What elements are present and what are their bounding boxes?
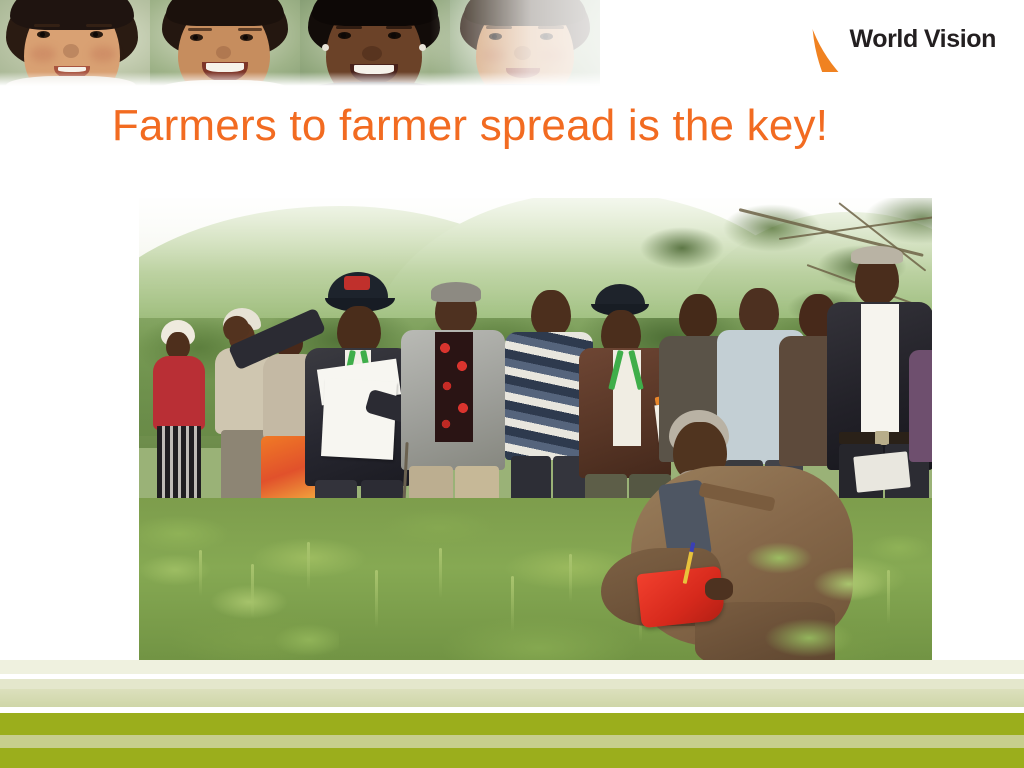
header-bottom-fade	[0, 72, 600, 87]
photo-held-papers	[321, 378, 397, 460]
footer-band-light	[0, 735, 1024, 748]
footer-band-olive-1	[0, 713, 1024, 735]
main-photo	[139, 198, 932, 672]
world-vision-logo: WorldVision	[789, 0, 1024, 72]
footer-stripes	[0, 660, 1024, 768]
world-vision-wordmark: WorldVision	[849, 25, 996, 54]
photo-white-object	[853, 451, 910, 492]
photo-foreground-plants	[739, 528, 929, 672]
footer-band-olive-2	[0, 748, 1024, 768]
slide-title: Farmers to farmer spread is the key!	[0, 101, 940, 151]
photo-foreground-plants	[139, 544, 339, 672]
footer-band-tint-2	[0, 679, 1024, 689]
footer-band-tint-3	[0, 689, 1024, 707]
footer-band-pale-1	[0, 660, 1024, 674]
logo-word-vision: Vision	[924, 25, 996, 53]
presentation-slide: WorldVision Farmers to farmer spread is …	[0, 0, 1024, 768]
logo-word-world: World	[849, 25, 917, 53]
